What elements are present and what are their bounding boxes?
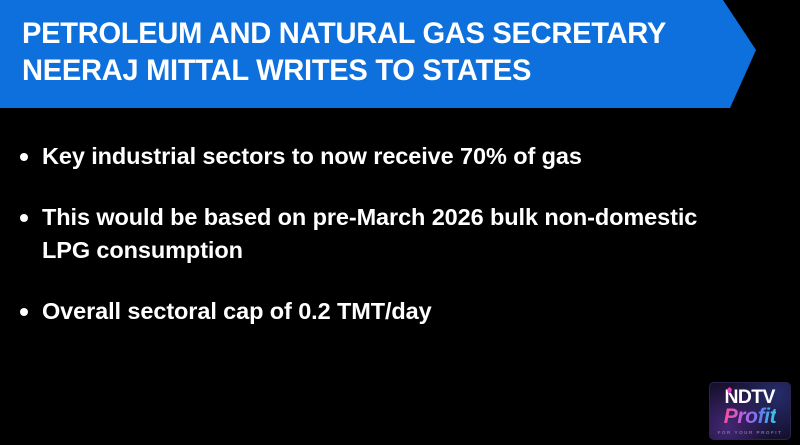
bullet-text-2: This would be based on pre-March 2026 bu… [42,201,732,267]
bullet-list: Key industrial sectors to now receive 70… [0,140,800,356]
logo-brand-text: NDTV [725,388,775,407]
bullet-dot-icon [20,153,28,161]
ndtv-profit-logo: NDTV Profit FOR YOUR PROFIT [709,382,791,440]
headline-line-1: PETROLEUM AND NATURAL GAS SECRETARY [22,15,734,52]
bullet-item-3: Overall sectoral cap of 0.2 TMT/day [0,295,800,328]
news-lower-third-graphic: PETROLEUM AND NATURAL GAS SECRETARY NEER… [0,0,800,445]
bullet-text-1: Key industrial sectors to now receive 70… [42,140,582,173]
logo-product-text: Profit [724,406,776,428]
bullet-dot-icon [20,214,28,222]
bullet-item-1: Key industrial sectors to now receive 70… [0,140,800,173]
logo-tagline-text: FOR YOUR PROFIT [718,430,783,436]
bullet-text-3: Overall sectoral cap of 0.2 TMT/day [42,295,432,328]
headline-banner: PETROLEUM AND NATURAL GAS SECRETARY NEER… [0,0,756,108]
bullet-item-2: This would be based on pre-March 2026 bu… [0,201,800,267]
headline-line-2: NEERAJ MITTAL WRITES TO STATES [22,52,734,89]
bullet-dot-icon [20,308,28,316]
